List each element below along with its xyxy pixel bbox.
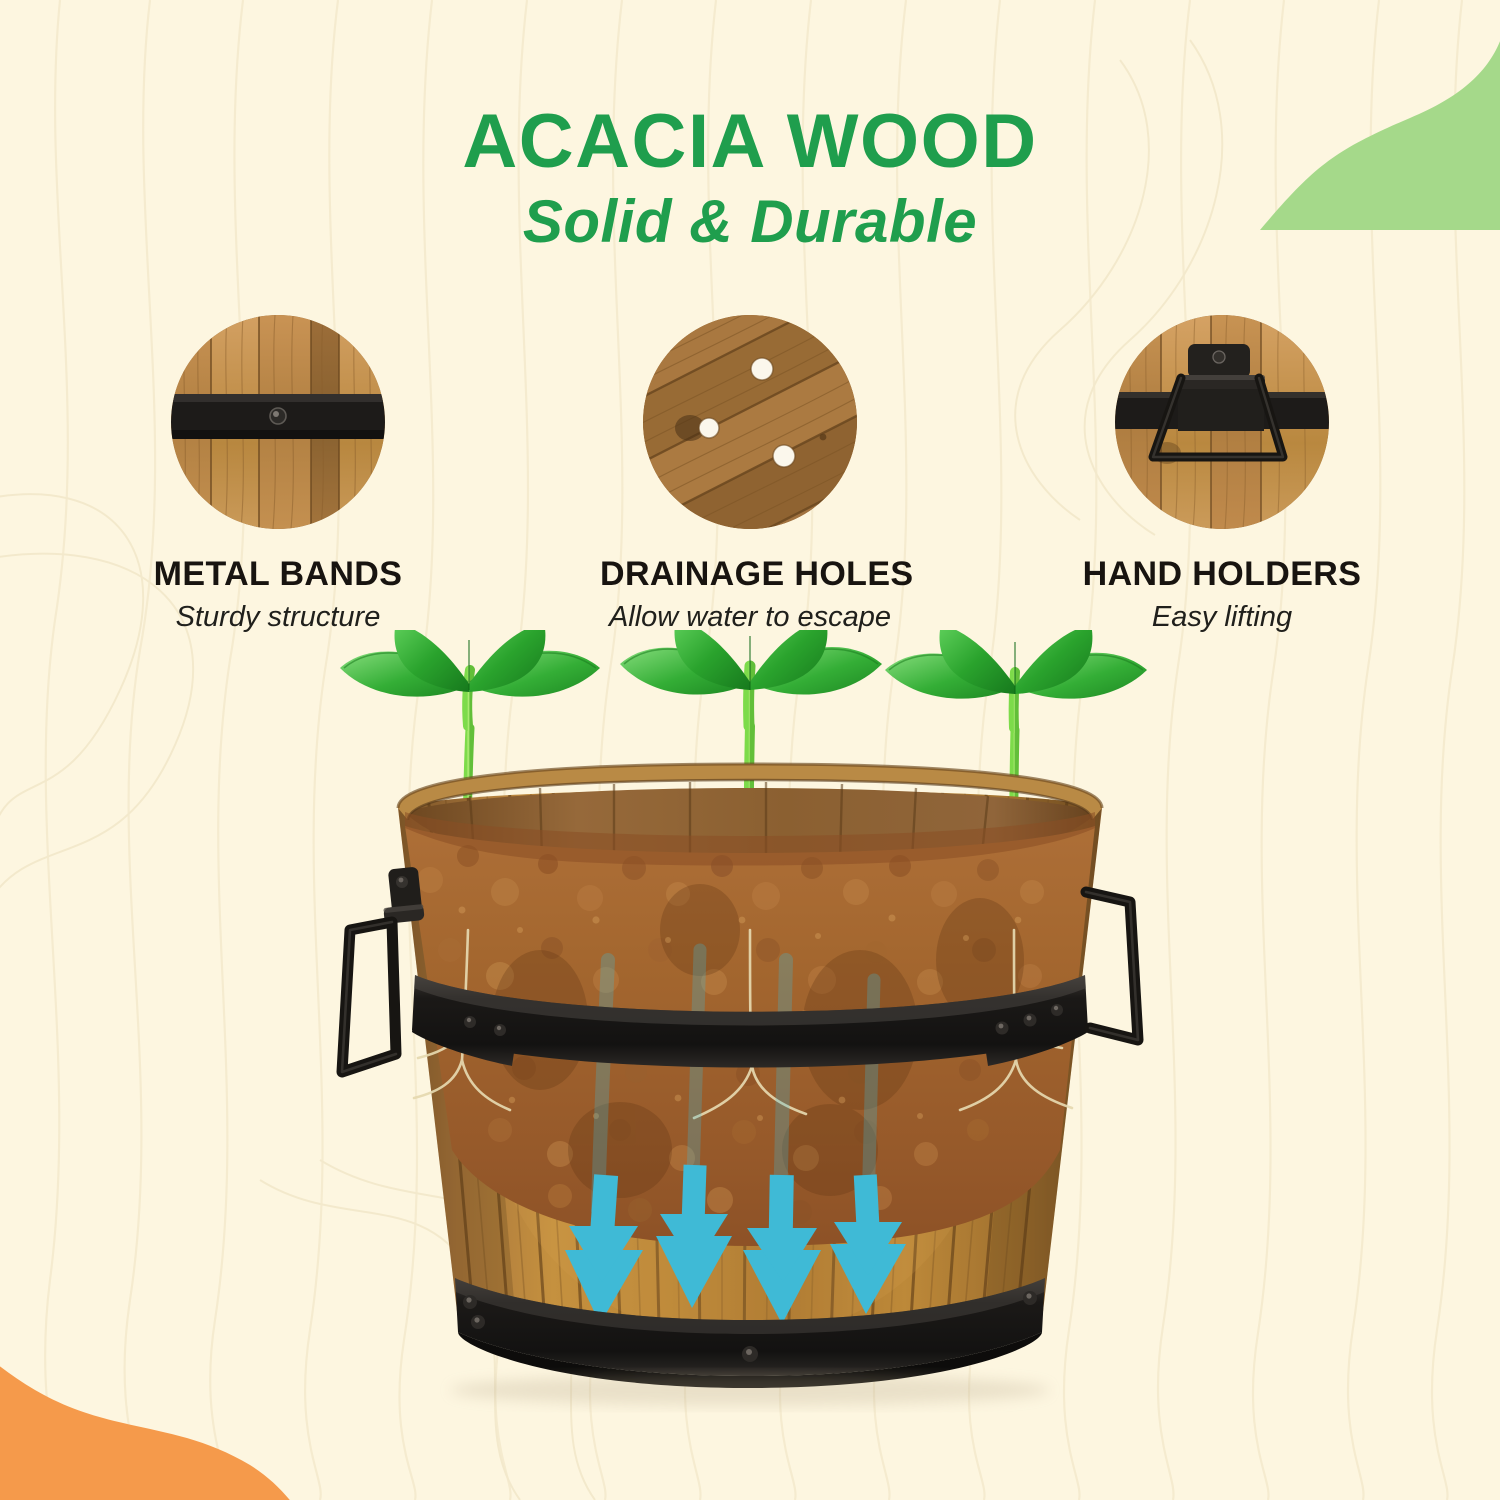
wood-slats-with-metal-band-icon [171,315,385,529]
handle-right [1086,892,1138,1040]
feature-item-metal-bands: METAL BANDS Sturdy structure [128,315,428,634]
feature-item-drainage-holes: DRAINAGE HOLES Allow water to escape [600,315,900,634]
feature-title-hand-holders: HAND HOLDERS [1072,555,1372,594]
wood-slats-with-metal-handle-icon [1115,315,1329,529]
wood-base-with-three-holes-icon [643,315,857,529]
headline-block: ACACIA WOOD Solid & Durable [0,104,1500,252]
product-shadow [450,1374,1050,1406]
feature-title-drainage-holes: DRAINAGE HOLES [600,555,900,594]
feature-title-metal-bands: METAL BANDS [128,555,428,594]
infographic-canvas: ACACIA WOOD Solid & Durable [0,0,1500,1500]
page-title: ACACIA WOOD [0,104,1500,180]
hand-holders-photo-circle [1115,315,1329,529]
metal-bands-photo-circle [171,315,385,529]
feature-item-hand-holders: HAND HOLDERS Easy lifting [1072,315,1372,634]
feature-list: METAL BANDS Sturdy structure [0,315,1500,634]
drainage-holes-photo-circle [643,315,857,529]
product-image-barrel-planter [0,630,1500,1420]
barrel-planter-illustration [0,630,1500,1420]
handle-left [342,867,425,1072]
page-subtitle: Solid & Durable [0,192,1500,252]
